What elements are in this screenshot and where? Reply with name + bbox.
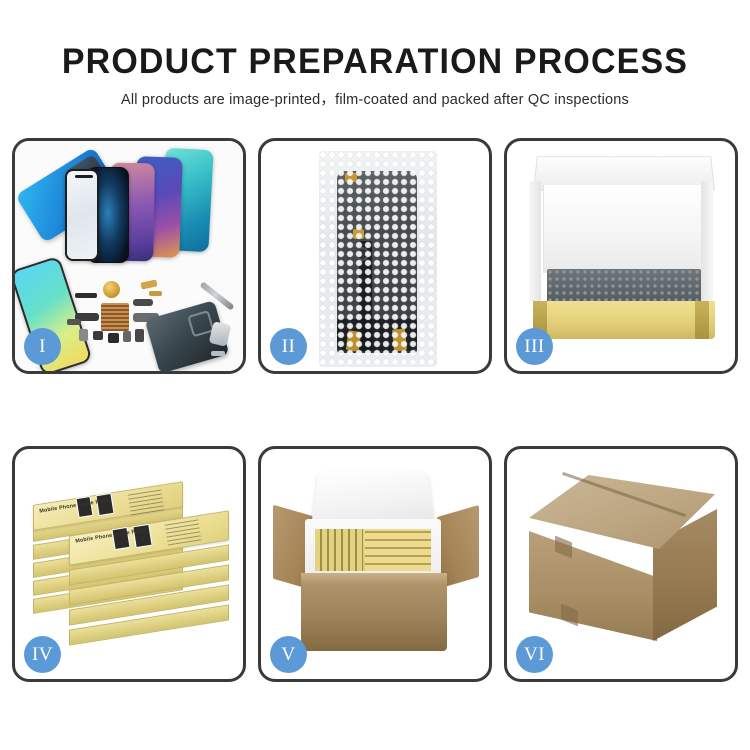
earpiece-part-icon bbox=[75, 293, 97, 298]
process-step-panel-4: Mobile Phone Spare Parts Mobile Phone Sp… bbox=[12, 446, 246, 682]
bubble-texture bbox=[319, 151, 437, 367]
small-part-icon bbox=[135, 329, 144, 342]
screws-icon bbox=[211, 351, 225, 356]
packed-retail-boxes-icon bbox=[315, 529, 431, 571]
retail-box-stack-icon: Mobile Phone Spare Parts Mobile Phone Sp… bbox=[29, 471, 235, 667]
flex-cable-icon bbox=[133, 299, 153, 306]
small-part-icon bbox=[108, 333, 119, 343]
bubble-wrap-bag-icon bbox=[319, 151, 437, 367]
gold-contact-icon bbox=[149, 291, 162, 296]
box-flap-left-icon bbox=[529, 181, 541, 301]
step-badge-4: IV bbox=[24, 636, 61, 673]
process-step-grid: I II bbox=[12, 138, 738, 682]
step-badge-3: III bbox=[516, 328, 553, 365]
page-title: PRODUCT PREPARATION PROCESS bbox=[11, 42, 739, 82]
foam-lid-icon bbox=[311, 472, 434, 524]
speaker-part-icon bbox=[103, 281, 120, 298]
small-part-icon bbox=[93, 331, 103, 340]
carton-left-face-icon bbox=[529, 531, 657, 641]
logic-board-icon bbox=[101, 303, 129, 331]
box-interior-icon bbox=[543, 185, 705, 273]
product-preparation-infographic: PRODUCT PREPARATION PROCESS All products… bbox=[0, 0, 750, 750]
box-front-edge-right-icon bbox=[695, 301, 709, 339]
packed-parts-icon bbox=[547, 269, 701, 303]
step-badge-2: II bbox=[270, 328, 307, 365]
step-badge-1: I bbox=[24, 328, 61, 365]
header: PRODUCT PREPARATION PROCESS All products… bbox=[0, 42, 750, 109]
process-step-panel-3: III bbox=[504, 138, 738, 374]
step-badge-5: V bbox=[270, 636, 307, 673]
small-part-icon bbox=[123, 331, 131, 342]
box-front-panel-icon bbox=[533, 301, 715, 339]
process-step-panel-6: VI bbox=[504, 446, 738, 682]
process-step-panel-2: II bbox=[258, 138, 492, 374]
process-step-panel-1: I bbox=[12, 138, 246, 374]
carton-rim-icon bbox=[301, 573, 447, 585]
small-part-icon bbox=[79, 329, 88, 341]
screen-protector-icon bbox=[65, 169, 99, 261]
process-step-panel-5: V bbox=[258, 446, 492, 682]
box-flap-right-icon bbox=[701, 181, 713, 301]
small-part-icon bbox=[67, 319, 81, 325]
page-subtitle: All products are image-printed，film-coat… bbox=[0, 88, 750, 109]
step-badge-6: VI bbox=[516, 636, 553, 673]
